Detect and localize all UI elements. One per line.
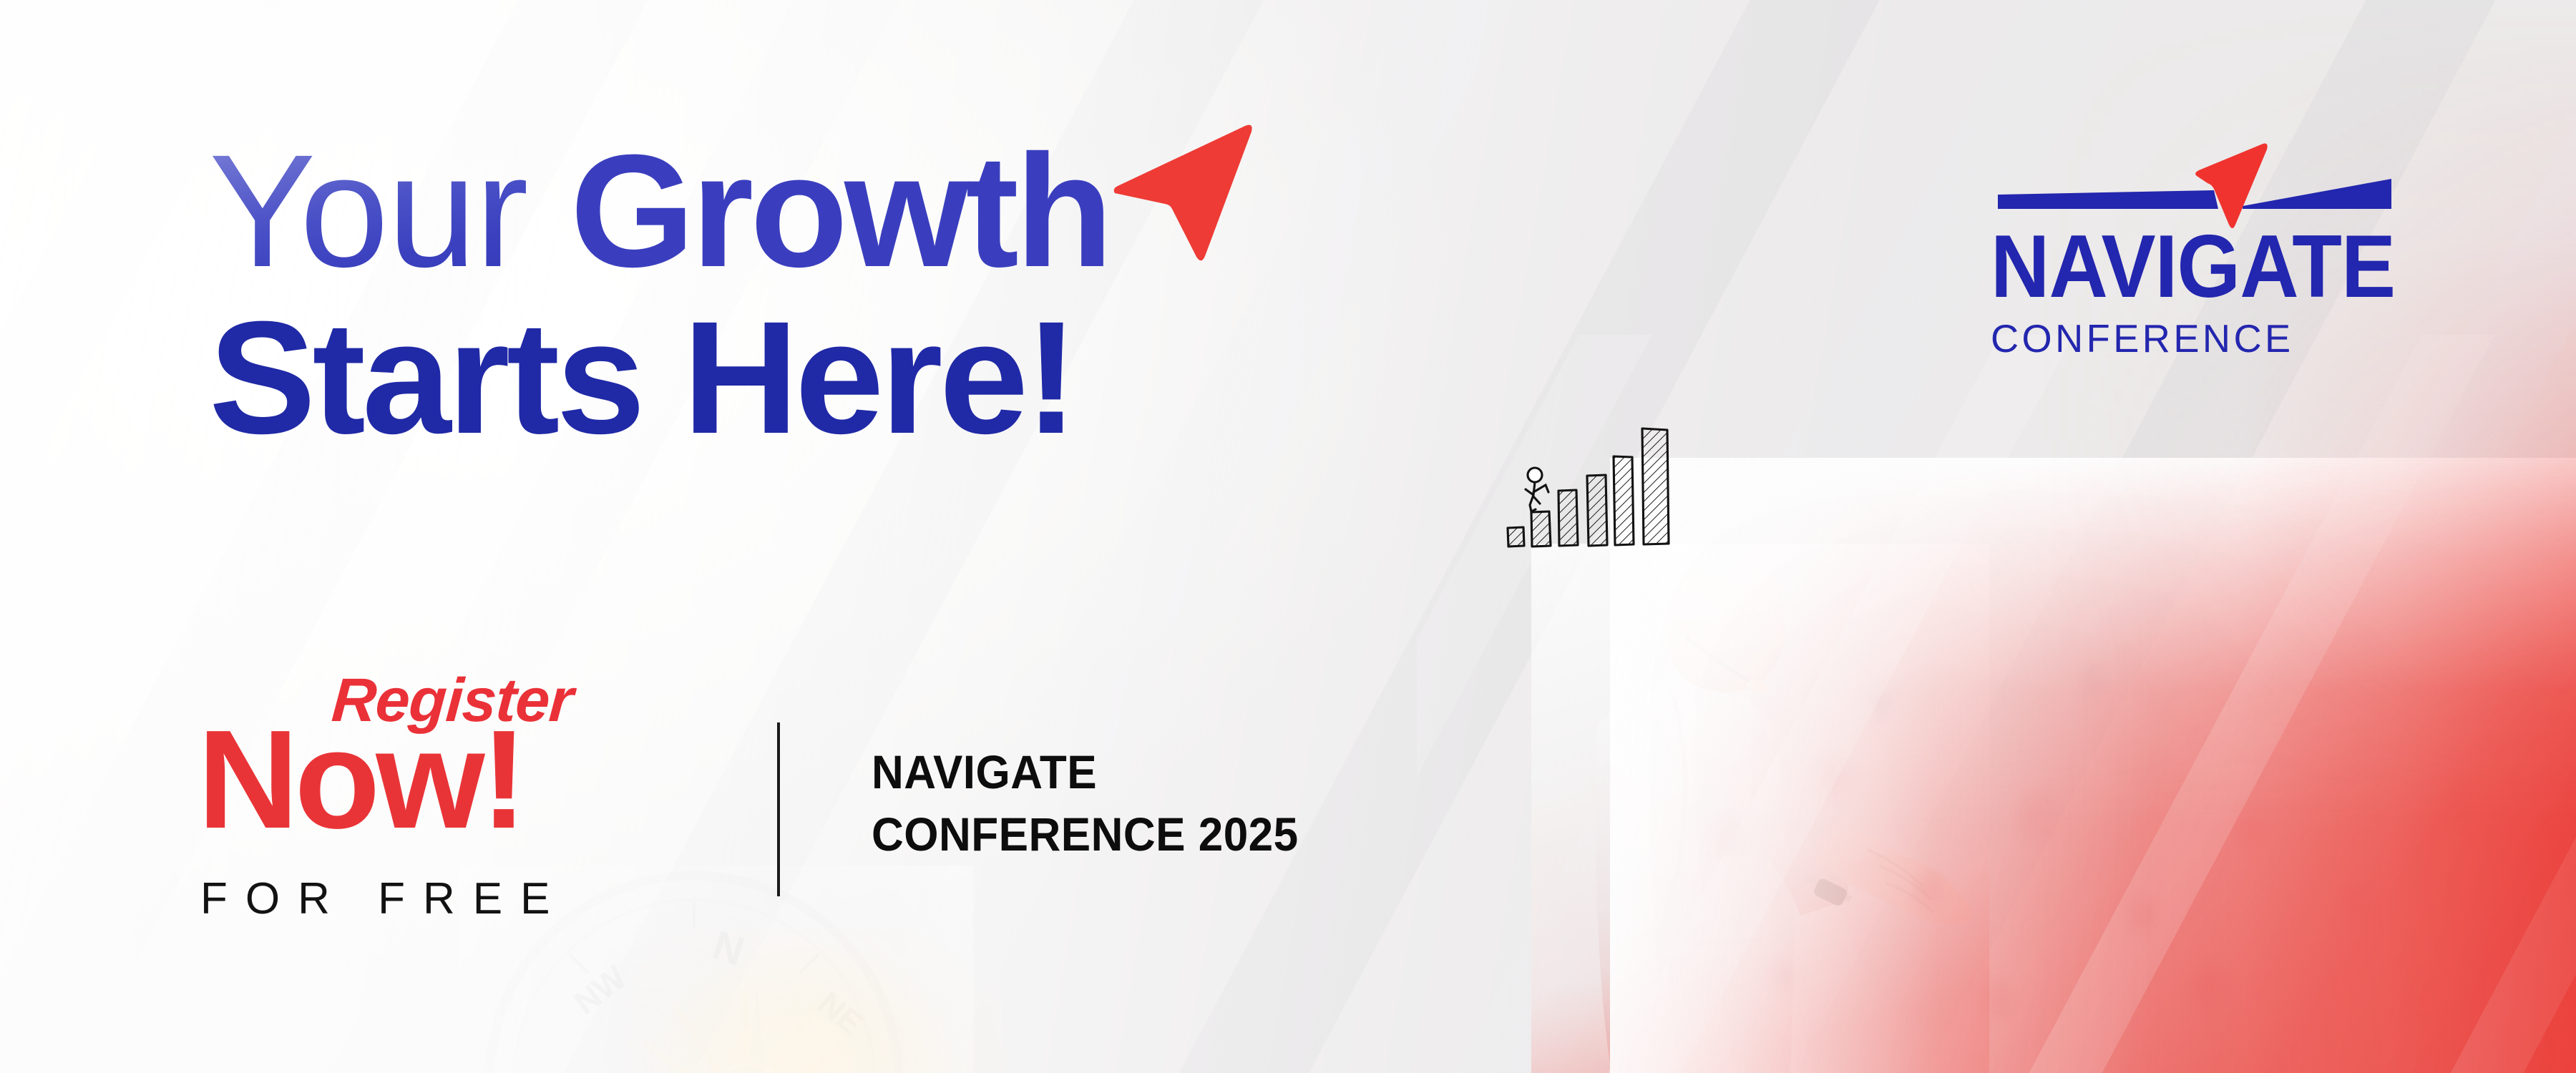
event-name-line-1: NAVIGATE bbox=[872, 741, 1477, 803]
headline-word-your: Your bbox=[209, 122, 527, 300]
headline-line-2: Starts Here! bbox=[209, 301, 1568, 455]
headline-line-1: Your Growth bbox=[209, 134, 1568, 288]
event-name-line-2: CONFERENCE 2025 bbox=[872, 803, 1477, 866]
page-title: Your Growth Starts Here! bbox=[209, 134, 1568, 455]
navigate-conference-logo: NAVIGATE CONFERENCE bbox=[1991, 140, 2406, 391]
vertical-divider bbox=[777, 722, 780, 896]
headline-word-growth: Growth bbox=[570, 122, 1110, 300]
logo-subtitle: CONFERENCE bbox=[1991, 319, 2399, 358]
promotional-banner: N NW NE E bbox=[0, 0, 2576, 1073]
logo-wordmark: NAVIGATE bbox=[1991, 227, 2373, 308]
growth-bar-chart-doodle bbox=[1478, 421, 1686, 560]
cta-for-free-label: FOR FREE bbox=[200, 877, 567, 921]
event-name: NAVIGATE CONFERENCE 2025 bbox=[872, 741, 1516, 866]
cta-register-label: Register bbox=[330, 670, 575, 731]
